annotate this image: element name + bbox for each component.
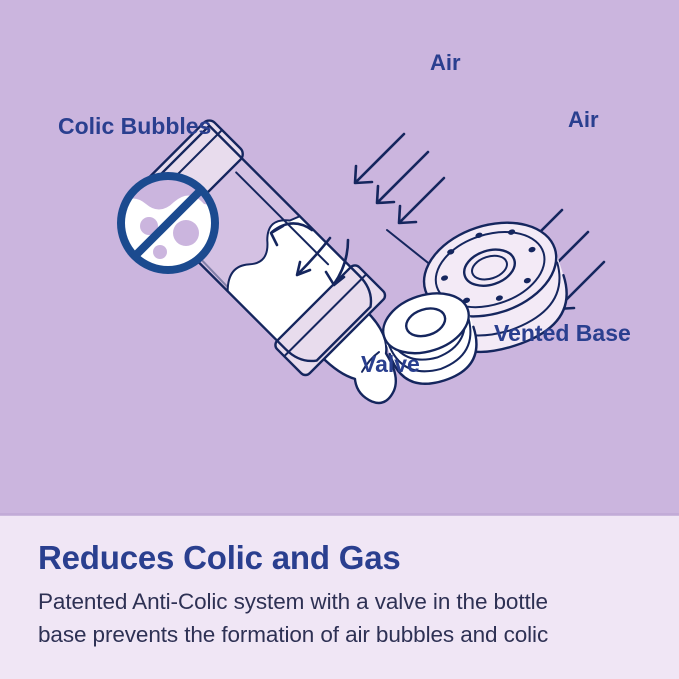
anti-colic-bottle-diagram: Colic Bubbles Air Air Valve Vented Base xyxy=(0,0,679,515)
bubble-3 xyxy=(153,245,167,259)
label-air-top: Air xyxy=(430,50,461,75)
air-arrow-top-3-line xyxy=(400,178,444,222)
page-title: Reduces Colic and Gas xyxy=(38,539,401,577)
air-arrow-top-1-line xyxy=(356,134,404,182)
air-arrow-top-2-line xyxy=(378,152,428,202)
label-air-right: Air xyxy=(568,107,599,132)
bubble-2 xyxy=(173,220,199,246)
label-colic-bubbles: Colic Bubbles xyxy=(58,113,211,139)
description-line-1: Patented Anti-Colic system with a valve … xyxy=(38,589,548,615)
product-feature-infographic: Colic Bubbles Air Air Valve Vented Base … xyxy=(0,0,679,679)
label-valve: Valve xyxy=(361,351,420,377)
no-colic-bubbles-icon xyxy=(118,173,218,273)
description-line-2: base prevents the formation of air bubbl… xyxy=(38,622,548,648)
label-vented-base: Vented Base xyxy=(494,320,631,346)
illustration-panel: Colic Bubbles Air Air Valve Vented Base xyxy=(0,0,679,515)
air-inflow-arrows-top xyxy=(355,134,444,223)
text-panel: Reduces Colic and Gas Patented Anti-Coli… xyxy=(0,516,679,679)
